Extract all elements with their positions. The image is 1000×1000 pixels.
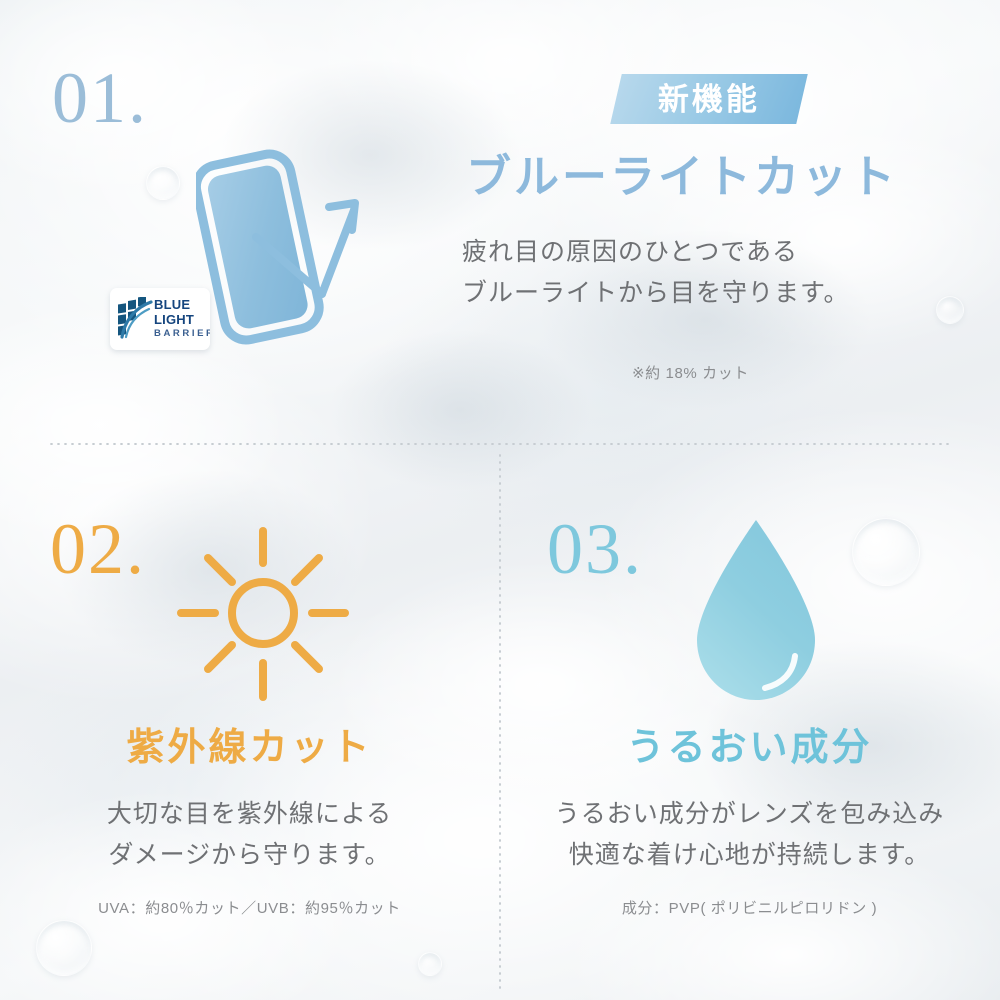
body-line: 大切な目を紫外線による — [0, 794, 499, 835]
water-drop-icon — [689, 516, 824, 706]
feature-section-01: 01. — [0, 0, 1000, 443]
section-number-03: 03. — [547, 513, 643, 585]
section-body-02: 大切な目を紫外線による ダメージから守ります。 — [0, 794, 499, 875]
body-line: 疲れ目の原因のひとつである — [462, 232, 850, 273]
section-body-03: うるおい成分がレンズを包み込み 快適な着け心地が持続します。 — [499, 794, 1000, 875]
smartphone-blue-light-icon — [196, 140, 366, 355]
section-body-01: 疲れ目の原因のひとつである ブルーライトから目を守ります。 — [462, 232, 850, 313]
badge-line-1: BLUE LIGHT — [154, 298, 210, 327]
body-line: うるおい成分がレンズを包み込み — [499, 794, 1000, 835]
section-heading-01: ブルーライトカット — [466, 152, 898, 202]
new-feature-badge: 新機能 — [610, 74, 808, 124]
badge-line-2: BARRIER — [154, 328, 210, 340]
section-note-03: 成分：PVP( ポリビニルピロリドン ) — [499, 897, 1000, 918]
infographic-canvas: 01. — [0, 0, 1000, 1000]
body-line: 快適な着け心地が持続します。 — [499, 835, 1000, 876]
feature-section-02: 02. 紫外線カット 大切な目を紫外線による ダメージから守ります。 — [0, 443, 499, 1000]
blue-light-barrier-badge: BLUE LIGHT BARRIER — [110, 288, 210, 350]
section-note-02: UVA：約80％カット／UVB：約95％カット — [0, 897, 499, 918]
body-line: ダメージから守ります。 — [0, 835, 499, 876]
sun-icon — [175, 525, 350, 705]
new-feature-badge-label: 新機能 — [658, 84, 760, 115]
section-heading-03: うるおい成分 — [499, 728, 1000, 770]
body-line: ブルーライトから目を守ります。 — [462, 273, 850, 314]
section-note-01: ※約 18% カット — [632, 362, 749, 383]
feature-section-03: 03. うるおい成分 うるおい成分がレンズを包み込み 快適な着け心地が持続します… — [499, 443, 1000, 1000]
section-heading-02: 紫外線カット — [0, 728, 499, 770]
section-number-02: 02. — [50, 513, 146, 585]
blue-light-barrier-mark — [115, 297, 153, 341]
section-number-01: 01. — [52, 62, 148, 134]
